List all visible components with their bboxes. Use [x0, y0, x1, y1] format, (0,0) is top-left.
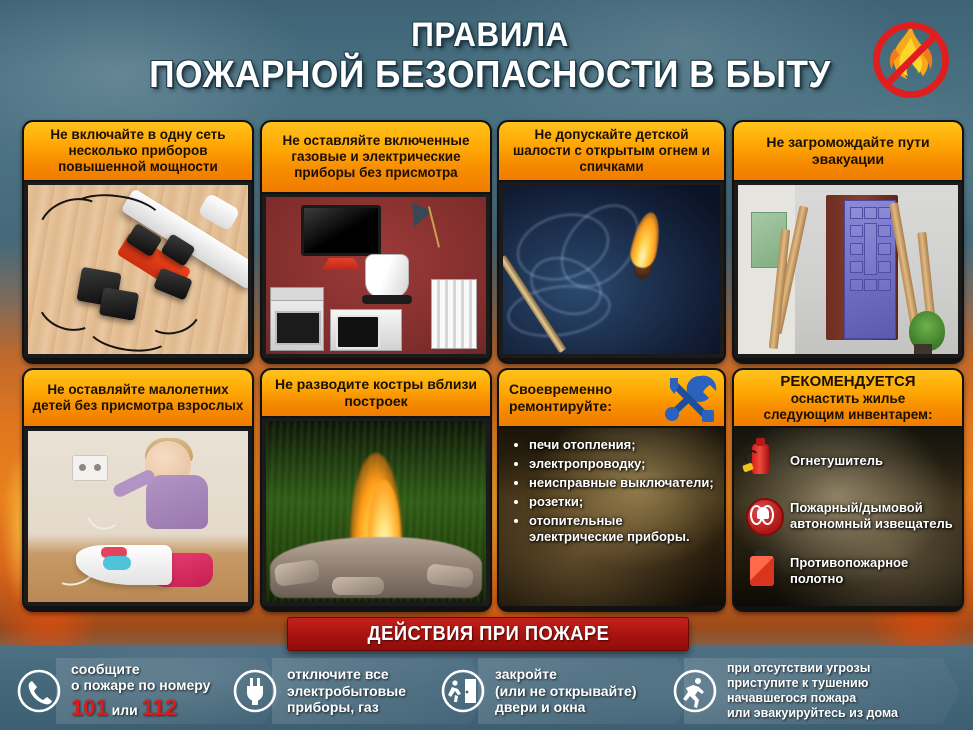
footer-extinguish-text: при отсутствии угрозы приступите к тушен… [727, 661, 898, 722]
card-unattended-appliances[interactable]: Не оставляйте включенные газовые и элект… [260, 120, 492, 364]
list-item: отопительные электрические приборы. [529, 513, 716, 547]
actions-banner: ДЕЙСТВИЯ ПРИ ПОЖАРЕ [287, 617, 689, 651]
phone-icon [16, 668, 62, 714]
card-children-alone-image [24, 428, 252, 606]
title-line-2: ПОЖАРНОЙ БЕЗОПАСНОСТИ В БЫТУ [137, 56, 844, 95]
footer-extinguish-line2: приступите к тушению [727, 676, 898, 691]
card-campfire-image [262, 418, 490, 606]
inventory-label: Противопожарное полотно [790, 555, 954, 586]
card-repair[interactable]: Своевременно ремонтируйте: [497, 368, 726, 612]
fire-safety-poster: ПРАВИЛА ПОЖАРНОЙ БЕЗОПАСНОСТИ В БЫТУ Не … [0, 0, 973, 730]
card-overload-title: Не включайте в одну сеть несколько прибо… [24, 122, 252, 182]
card-recommend-title-3: следующим инвентарем: [763, 407, 932, 423]
card-children-fire[interactable]: Не допускайте детской шалости с открытым… [497, 120, 726, 364]
card-campfire-title: Не разводите костры вблизи построек [262, 370, 490, 418]
card-children-fire-image [499, 182, 724, 358]
footer-close-line2: (или не открывайте) [495, 683, 636, 700]
exit-door-icon [440, 668, 486, 714]
footer-item-close-doors[interactable]: закройте (или не открывайте) двери и окн… [440, 655, 690, 727]
footer-item-extinguish-or-evacuate[interactable]: при отсутствии угрозы приступите к тушен… [672, 655, 968, 727]
footer-unplug-line1: отключите все [287, 666, 406, 683]
power-plug-icon [232, 668, 278, 714]
card-evacuation-routes[interactable]: Не загромождайте пути эвакуации [732, 120, 964, 364]
footer-call-text: сообщите о пожаре по номеру 101 или 112 [71, 661, 210, 722]
footer-unplug-line3: приборы, газ [287, 699, 406, 716]
list-item: Огнетушитель [742, 438, 954, 484]
emergency-number-101: 101 [71, 695, 108, 720]
list-item: печи отопления; [529, 437, 716, 454]
card-recommend-header: РЕКОМЕНДУЕТСЯ оснастить жилье следующим … [734, 370, 962, 428]
running-person-icon [672, 668, 718, 714]
card-repair-title: Своевременно ремонтируйте: [509, 381, 649, 414]
footer-unplug-text: отключите все электробытовые приборы, га… [287, 666, 406, 716]
list-item: Пожарный/дымовой автономный извещатель [742, 493, 954, 539]
footer-unplug-line2: электробытовые [287, 683, 406, 700]
smoke-detector-icon [742, 493, 782, 539]
page-title: ПРАВИЛА ПОЖАРНОЙ БЕЗОПАСНОСТИ В БЫТУ [110, 18, 870, 94]
card-overload-image [24, 182, 252, 358]
inventory-label: Пожарный/дымовой автономный извещатель [790, 500, 954, 531]
footer-close-line3: двери и окна [495, 699, 636, 716]
footer-close-doors-text: закройте (или не открывайте) двери и окн… [495, 666, 636, 716]
repair-items-list: печи отопления; электропроводку; неиспра… [499, 428, 724, 554]
card-children-alone[interactable]: Не оставляйте малолетних детей без присм… [22, 368, 254, 612]
footer-call-line1: сообщите [71, 661, 210, 678]
list-item: электропроводку; [529, 456, 716, 473]
footer-extinguish-line3: начавшегося пожара [727, 691, 898, 706]
list-item: розетки; [529, 494, 716, 511]
card-children-alone-title: Не оставляйте малолетних детей без присм… [24, 370, 252, 428]
footer-close-line1: закройте [495, 666, 636, 683]
card-recommend-title-1: РЕКОМЕНДУЕТСЯ [780, 373, 915, 391]
card-unattended-appliances-image [262, 194, 490, 358]
card-unattended-appliances-title: Не оставляйте включенные газовые и элект… [262, 122, 490, 194]
footer-conjunction: или [112, 702, 138, 718]
card-evacuation-routes-image [734, 182, 962, 358]
footer-extinguish-line4: или эвакуируйтесь из дома [727, 706, 898, 721]
fire-extinguisher-icon [742, 438, 782, 484]
card-repair-header: Своевременно ремонтируйте: [499, 370, 724, 428]
footer-call-line2: о пожаре по номеру [71, 677, 210, 694]
card-repair-content: печи отопления; электропроводку; неиспра… [499, 428, 724, 606]
no-fire-icon [861, 12, 961, 108]
emergency-number-112: 112 [142, 695, 178, 720]
fire-blanket-icon [742, 548, 782, 594]
list-item: неисправные выключатели; [529, 475, 716, 492]
poster-header: ПРАВИЛА ПОЖАРНОЙ БЕЗОПАСНОСТИ В БЫТУ [0, 0, 973, 114]
inventory-label: Огнетушитель [790, 453, 883, 469]
card-overload[interactable]: Не включайте в одну сеть несколько прибо… [22, 120, 254, 364]
list-item: Противопожарное полотно [742, 548, 954, 594]
inventory-list: Огнетушитель Пожарный/дымовой автономный… [734, 428, 962, 606]
title-line-1: ПРАВИЛА [137, 18, 844, 53]
card-recommend-title-2: оснастить жилье [791, 391, 906, 407]
card-recommend-content: Огнетушитель Пожарный/дымовой автономный… [734, 428, 962, 606]
tools-icon [658, 372, 720, 426]
footer-extinguish-line1: при отсутствии угрозы [727, 661, 898, 676]
card-campfire[interactable]: Не разводите костры вблизи построек [260, 368, 492, 612]
card-children-fire-title: Не допускайте детской шалости с открытым… [499, 122, 724, 182]
actions-banner-text: ДЕЙСТВИЯ ПРИ ПОЖАРЕ [367, 623, 609, 646]
card-evacuation-routes-title: Не загромождайте пути эвакуации [734, 122, 962, 182]
card-recommend[interactable]: РЕКОМЕНДУЕТСЯ оснастить жилье следующим … [732, 368, 964, 612]
